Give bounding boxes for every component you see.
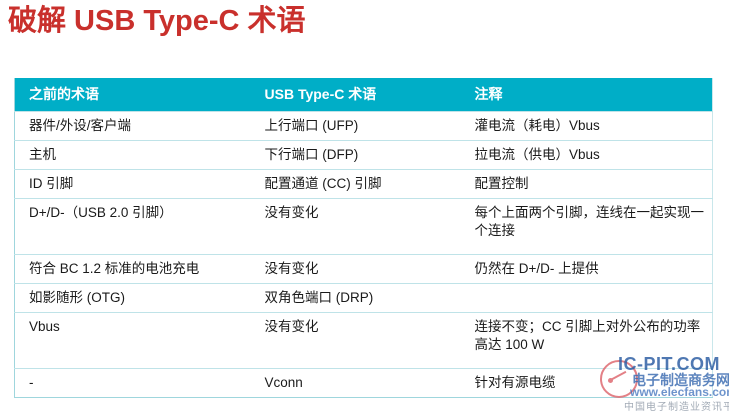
cell-new-term: Vconn [251, 369, 461, 398]
cell-new-term: 没有变化 [251, 199, 461, 255]
cell-old-term: 器件/外设/客户端 [15, 112, 251, 141]
table-row: D+/D-（USB 2.0 引脚） 没有变化 每个上面两个引脚，连线在一起实现一… [15, 199, 713, 255]
cell-new-term: 上行端口 (UFP) [251, 112, 461, 141]
table-row: ID 引脚 配置通道 (CC) 引脚 配置控制 [15, 170, 713, 199]
cell-old-term: Vbus [15, 313, 251, 369]
cell-note [461, 284, 713, 313]
cell-note: 灌电流（耗电）Vbus [461, 112, 713, 141]
cell-new-term: 下行端口 (DFP) [251, 141, 461, 170]
cell-new-term: 没有变化 [251, 255, 461, 284]
watermark-tagline: 中国电子制造业资讯平台 [624, 398, 729, 413]
cell-note: 拉电流（供电）Vbus [461, 141, 713, 170]
cell-note: 配置控制 [461, 170, 713, 199]
table-row: 器件/外设/客户端 上行端口 (UFP) 灌电流（耗电）Vbus [15, 112, 713, 141]
slide-canvas: 破解 USB Type-C 术语 之前的术语 USB Type-C 术语 注释 … [0, 0, 729, 412]
column-header-new-term: USB Type-C 术语 [251, 78, 461, 112]
table-row: - Vconn 针对有源电缆 [15, 369, 713, 398]
cell-note: 连接不变；CC 引脚上对外公布的功率高达 100 W [461, 313, 713, 369]
cell-note: 仍然在 D+/D- 上提供 [461, 255, 713, 284]
table-row: Vbus 没有变化 连接不变；CC 引脚上对外公布的功率高达 100 W [15, 313, 713, 369]
column-header-note: 注释 [461, 78, 713, 112]
table-row: 如影随形 (OTG) 双角色端口 (DRP) [15, 284, 713, 313]
table-row: 主机 下行端口 (DFP) 拉电流（供电）Vbus [15, 141, 713, 170]
cell-note: 针对有源电缆 [461, 369, 713, 398]
cell-old-term: 符合 BC 1.2 标准的电池充电 [15, 255, 251, 284]
cell-new-term: 没有变化 [251, 313, 461, 369]
table-header-row: 之前的术语 USB Type-C 术语 注释 [15, 78, 713, 112]
column-header-old-term: 之前的术语 [15, 78, 251, 112]
terminology-table: 之前的术语 USB Type-C 术语 注释 器件/外设/客户端 上行端口 (U… [14, 78, 713, 398]
cell-new-term: 配置通道 (CC) 引脚 [251, 170, 461, 199]
cell-note: 每个上面两个引脚，连线在一起实现一个连接 [461, 199, 713, 255]
cell-old-term: D+/D-（USB 2.0 引脚） [15, 199, 251, 255]
cell-old-term: - [15, 369, 251, 398]
cell-old-term: ID 引脚 [15, 170, 251, 199]
page-title: 破解 USB Type-C 术语 [8, 3, 306, 39]
cell-new-term: 双角色端口 (DRP) [251, 284, 461, 313]
table-row: 符合 BC 1.2 标准的电池充电 没有变化 仍然在 D+/D- 上提供 [15, 255, 713, 284]
cell-old-term: 主机 [15, 141, 251, 170]
cell-old-term: 如影随形 (OTG) [15, 284, 251, 313]
